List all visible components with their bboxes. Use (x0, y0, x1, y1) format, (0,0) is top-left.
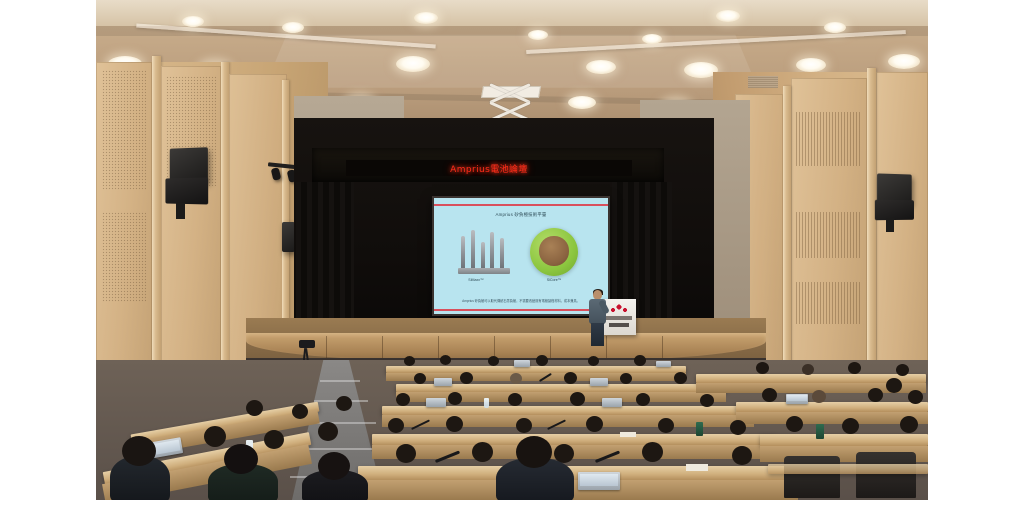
audience-head (868, 388, 883, 402)
desk-row-right (768, 464, 928, 474)
slide-footnote: Amprius 矽負極可以取代傳統石墨負極，不需要改變既有電極製程材料，成本兼具… (440, 299, 602, 304)
laptop (786, 394, 808, 404)
nanowire (490, 232, 494, 268)
desk-row-right (760, 434, 928, 446)
chair-back (856, 452, 916, 498)
nanowire (481, 242, 485, 268)
laptop (656, 361, 671, 367)
laptop (434, 378, 452, 386)
thermos (816, 424, 824, 439)
slide-surface: Amprius 矽負極技術平臺 SiMaxx™ SiCore™ Amprius … (434, 198, 608, 314)
audience-head (224, 444, 258, 474)
audience-head (842, 418, 859, 434)
audience-head (896, 364, 909, 376)
audience-head (472, 442, 493, 462)
audience-head (634, 355, 646, 366)
acoustic-perforation (102, 70, 146, 190)
audience-head (264, 430, 284, 449)
audience-head (440, 355, 451, 365)
slide-rule-bottom (434, 309, 608, 311)
audience-head (848, 362, 861, 374)
downlight (586, 60, 616, 74)
audience-head (900, 416, 918, 433)
desk-front (372, 445, 776, 459)
audience-head (700, 394, 714, 407)
presenter-legs (591, 323, 604, 346)
downlight (642, 34, 662, 44)
downlight (824, 22, 846, 33)
led-banner-text: Amprius電池論壇 (450, 162, 528, 175)
desk-row (372, 434, 776, 445)
audience-head (508, 393, 522, 406)
audience-head (516, 436, 552, 468)
downlight (796, 58, 826, 72)
presenter (586, 290, 608, 346)
podium-banner-text (609, 323, 629, 327)
apron-seam (550, 336, 551, 360)
audience-head (802, 364, 814, 375)
audience-head (488, 356, 499, 366)
audience-head (318, 452, 350, 480)
slide-rule-top (434, 204, 608, 206)
speaker-bracket (886, 218, 894, 232)
ceiling-soffit (96, 0, 928, 26)
projection-screen: Amprius 矽負極技術平臺 SiMaxx™ SiCore™ Amprius … (432, 196, 610, 316)
audience-head (396, 393, 410, 406)
downlight (888, 54, 920, 69)
led-banner[interactable]: Amprius電池論壇 (346, 160, 632, 176)
apron-seam (382, 336, 383, 360)
apron-seam (326, 336, 327, 360)
audience-head (448, 392, 462, 405)
audience-head (674, 372, 687, 384)
audience-head (404, 356, 415, 366)
thermos (696, 422, 703, 436)
nanowire-substrate (458, 268, 510, 274)
right-speaker-sub (875, 200, 914, 221)
nanowire (500, 238, 504, 268)
audience-head (536, 355, 548, 366)
laptop (578, 472, 620, 490)
laptop (590, 378, 608, 386)
audience-head (620, 373, 632, 384)
paper-handout (686, 464, 708, 471)
audience-head (292, 404, 308, 419)
air-vent (748, 76, 778, 88)
desk-row-right (736, 402, 928, 412)
laptop-screen (580, 474, 618, 486)
audience-head (318, 422, 338, 441)
amprius-logo-icon (609, 303, 629, 313)
audience-head (564, 372, 577, 384)
audience-head (336, 396, 352, 411)
left-speaker-sub (165, 177, 208, 204)
audience-head (886, 378, 902, 393)
downlight (396, 56, 430, 72)
audience-house (96, 360, 928, 500)
acoustic-slats (796, 282, 862, 324)
audience-head (204, 426, 226, 447)
desk-front (386, 373, 686, 381)
nanowire (461, 236, 465, 268)
downlight (282, 22, 304, 33)
podium-banner-line (606, 316, 632, 320)
nanowire (471, 230, 475, 268)
audience-head (636, 393, 650, 406)
sicore-core (539, 236, 569, 266)
audience-head (460, 372, 473, 384)
audience-head (122, 436, 156, 466)
speaker-bracket (176, 203, 185, 219)
audience-head (908, 390, 923, 404)
simaxx-label: SiMaxx™ (446, 278, 506, 282)
downlight (182, 16, 204, 27)
audience-head (658, 418, 674, 433)
acoustic-perforation (102, 212, 146, 302)
audience-head (732, 446, 752, 465)
audience-head (756, 362, 769, 374)
audience-head (246, 400, 263, 416)
acoustic-slats (796, 112, 862, 166)
desk-row (386, 366, 686, 373)
apron-seam (662, 336, 663, 360)
audience-head (414, 373, 426, 384)
auditorium-photo: Amprius電池論壇 Amprius 矽負極技術平臺 SiMaxx™ (96, 0, 928, 500)
audience-head (510, 373, 522, 384)
desk-row (382, 406, 754, 415)
laptop (514, 360, 530, 367)
chair-back (784, 456, 840, 498)
screenshot-root: Amprius電池論壇 Amprius 矽負極技術平臺 SiMaxx™ (0, 0, 1024, 512)
downlight (568, 96, 596, 109)
audience-head (812, 390, 826, 403)
audience-head (588, 356, 599, 366)
audience-head (516, 418, 532, 433)
acoustic-slats (796, 212, 862, 258)
laptop (602, 398, 622, 407)
audience-head (762, 388, 777, 402)
paper-handout (620, 432, 636, 437)
audience-head (586, 416, 603, 432)
apron-seam (438, 336, 439, 360)
audience-head (730, 420, 746, 435)
camera-head (299, 340, 315, 348)
audience-head (642, 442, 663, 462)
audience-head (446, 416, 463, 432)
audience-head (786, 416, 803, 432)
sicore-label: SiCore™ (524, 278, 584, 282)
laptop (426, 398, 446, 407)
water-bottle (484, 398, 489, 408)
downlight (414, 12, 438, 24)
audience-head (570, 392, 585, 406)
laptop-screen (787, 395, 807, 401)
downlight (716, 10, 740, 22)
slide-title: Amprius 矽負極技術平臺 (434, 212, 608, 218)
sicore-particle-diagram (530, 228, 578, 276)
audience-head (388, 418, 404, 433)
audience-head (396, 444, 416, 463)
simaxx-nanowire-diagram (458, 228, 510, 276)
downlight (528, 30, 548, 40)
step-nosing (320, 380, 360, 382)
